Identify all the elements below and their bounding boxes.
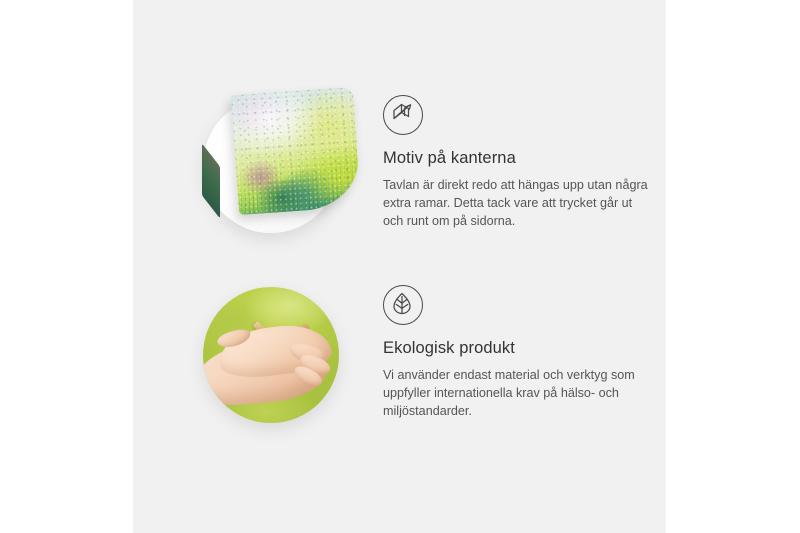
feature-text-column-2: Ekologisk produkt Vi använder endast mat… [383,285,655,421]
canvas-wrapped-edge-icon [383,95,423,135]
leaf-icon [383,285,423,325]
feature-text-column-1: Motiv på kanterna Tavlan är direkt redo … [383,95,655,231]
content-panel: Motiv på kanterna Tavlan är direkt redo … [133,0,666,533]
left-white-margin [0,0,133,533]
feature-title: Ekologisk produkt [383,339,655,359]
canvas-print-image [231,87,361,215]
media-hands-holding-wood-chips [203,287,339,423]
canvas-print-drip-texture [235,152,361,216]
feature-block-ekologisk-produkt: Ekologisk produkt Vi använder endast mat… [133,275,666,445]
media-canvas-print-on-white-plate [203,97,339,233]
right-white-margin [666,0,800,533]
feature-block-motiv-pa-kanterna: Motiv på kanterna Tavlan är direkt redo … [133,85,666,255]
feature-description: Tavlan är direkt redo att hängas upp uta… [383,176,655,231]
feature-description: Vi använder endast material och verktyg … [383,366,655,421]
photo-disc [203,287,339,423]
feature-title: Motiv på kanterna [383,149,655,169]
product-feature-banner: Motiv på kanterna Tavlan är direkt redo … [0,0,800,533]
